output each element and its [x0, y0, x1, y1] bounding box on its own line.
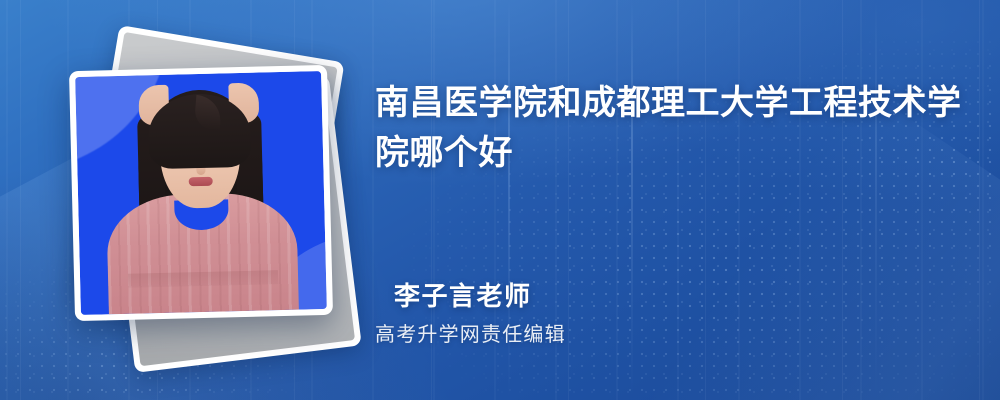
portrait-figure — [75, 71, 327, 315]
article-cover-banner: 南昌医学院和成都理工大学工程技术学院哪个好 李子言老师 高考升学网责任编辑 — [0, 0, 1000, 400]
article-headline: 南昌医学院和成都理工大学工程技术学院哪个好 — [375, 78, 969, 178]
author-name: 李子言老师 — [394, 276, 532, 313]
portrait-dress — [106, 192, 299, 315]
banner-text-column: 南昌医学院和成都理工大学工程技术学院哪个好 李子言老师 高考升学网责任编辑 — [372, 0, 972, 400]
author-role: 高考升学网责任编辑 — [375, 318, 566, 347]
author-photo-frame — [75, 71, 327, 315]
photo-card-stack — [0, 0, 360, 400]
portrait-lips — [189, 177, 213, 187]
author-portrait-photo — [75, 71, 327, 315]
author-photo-card — [69, 65, 333, 321]
